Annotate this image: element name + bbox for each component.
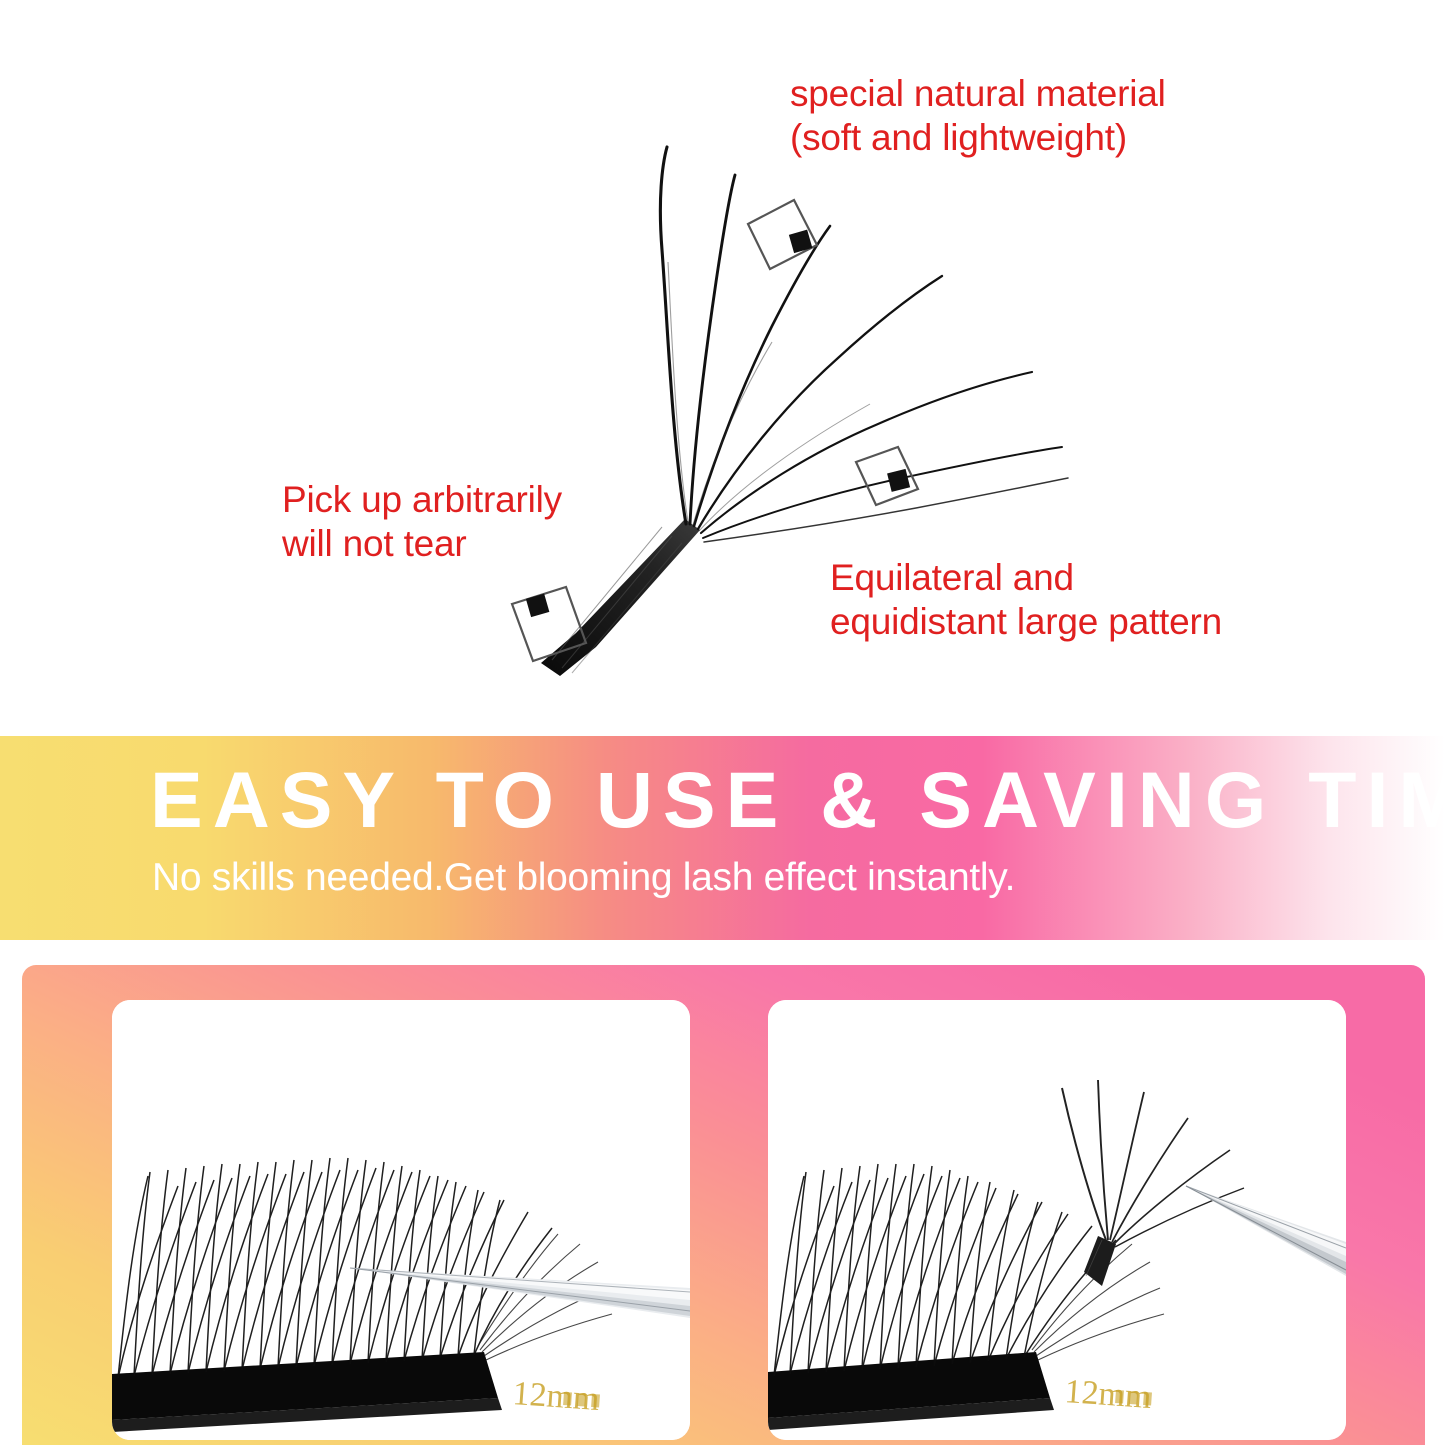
callout-special-natural-material: special natural material (soft and light… — [790, 72, 1166, 159]
lash-fan-illustration — [0, 0, 1445, 736]
easy-to-use-banner: EASY TO USE & SAVING TIME No skills need… — [0, 736, 1445, 940]
callout-equilateral-equidistant: Equilateral and equidistant large patter… — [830, 556, 1222, 643]
tray-size-label-shadow — [1115, 1390, 1152, 1406]
product-photos-panel: 12mm — [22, 965, 1425, 1445]
lash-tray-with-tweezers-photo: 12mm — [112, 1000, 690, 1440]
lash-fibers-secondary — [668, 262, 870, 531]
callout-pick-up-arbitrarily: Pick up arbitrarily will not tear — [282, 478, 562, 565]
lash-base-stem — [541, 519, 700, 676]
tray-size-label: 12mm — [1063, 1373, 1152, 1416]
tray-size-label: 12mm — [511, 1375, 600, 1418]
top-diagram-section: special natural material (soft and light… — [0, 0, 1445, 736]
lash-fibers — [660, 147, 1068, 542]
banner-subtitle: No skills needed.Get blooming lash effec… — [152, 858, 1015, 897]
marker-top-icon — [748, 200, 817, 269]
lash-tray-right-svg: 12mm — [768, 1000, 1346, 1440]
lash-tray-left-svg: 12mm — [112, 1000, 690, 1440]
tray-size-label-shadow — [563, 1392, 600, 1408]
lash-fan-pickup-photo: 12mm — [768, 1000, 1346, 1440]
banner-title: EASY TO USE & SAVING TIME — [150, 760, 1445, 839]
